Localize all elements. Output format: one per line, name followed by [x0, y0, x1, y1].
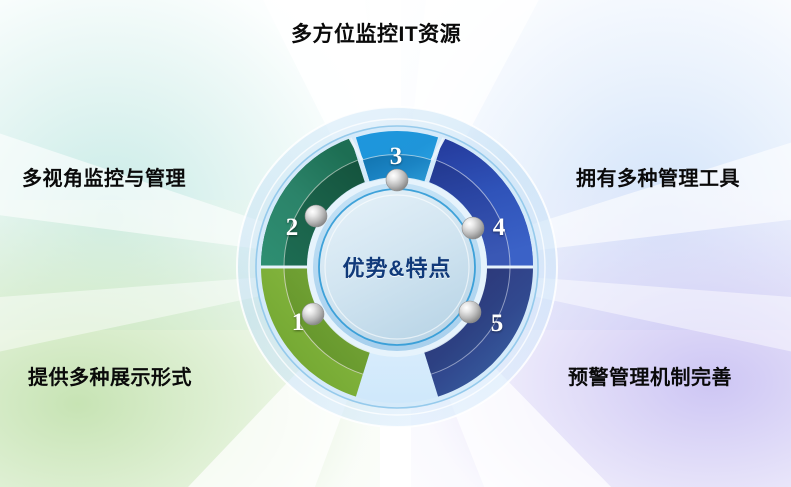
radial-wheel-graphic: [0, 0, 791, 487]
callout-label-right-lower: 预警管理机制完善: [568, 367, 732, 389]
marker-sphere-5: [459, 301, 481, 323]
callout-label-right-upper: 拥有多种管理工具: [576, 168, 740, 190]
callout-label-left-lower: 提供多种展示形式: [28, 367, 192, 389]
marker-sphere-3: [386, 169, 408, 191]
marker-sphere-1: [302, 303, 324, 325]
marker-sphere-2: [305, 205, 327, 227]
infographic-canvas: 1 2 3 4 5 优势&特点 多方位监控IT资源 多视角监控与管理 提供多种展…: [0, 0, 791, 487]
callout-label-top: 多方位监控IT资源: [291, 23, 461, 46]
callout-label-left-upper: 多视角监控与管理: [22, 168, 186, 190]
center-title: 优势&特点: [343, 251, 452, 283]
marker-sphere-4: [462, 217, 484, 239]
